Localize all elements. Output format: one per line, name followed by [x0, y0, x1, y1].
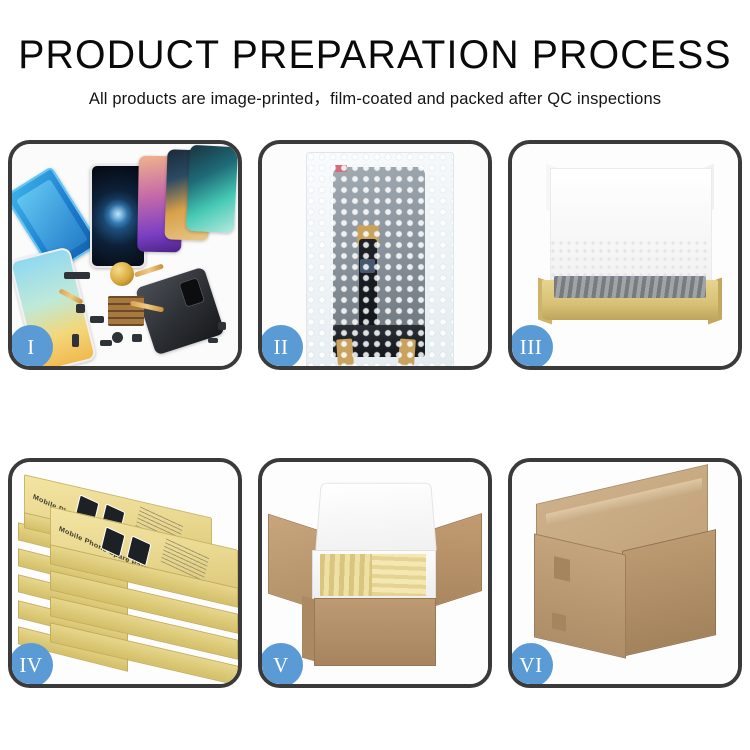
process-step-panel-2[interactable]: II	[258, 140, 492, 370]
process-step-grid: I II	[8, 140, 742, 740]
sealed-shipping-carton-image: VI	[512, 462, 738, 684]
process-step-panel-6[interactable]: VI	[508, 458, 742, 688]
page-header: PRODUCT PREPARATION PROCESS All products…	[0, 0, 750, 109]
open-kraft-box-with-foam-image: III	[512, 144, 738, 366]
step-badge-5: V	[262, 643, 303, 684]
phone-screens-and-spare-parts-image: I	[12, 144, 238, 366]
page-title: PRODUCT PREPARATION PROCESS	[8, 0, 743, 76]
carton-with-foam-liner-image: V	[262, 462, 488, 684]
process-step-panel-1[interactable]: I	[8, 140, 242, 370]
stack-of-retail-boxes-image: Mobile Phone Spare Parts Mobile Phone Sp…	[12, 462, 238, 684]
process-step-panel-5[interactable]: V	[258, 458, 492, 688]
step-badge-6: VI	[512, 643, 553, 684]
lcd-wrapped-in-bubble-wrap-image: II	[262, 144, 488, 366]
step-badge-4: IV	[12, 643, 53, 684]
step-badge-3: III	[512, 325, 553, 366]
step-badge-1: I	[12, 325, 53, 366]
process-step-panel-4[interactable]: Mobile Phone Spare Parts Mobile Phone Sp…	[8, 458, 242, 688]
step-badge-2: II	[262, 325, 303, 366]
process-step-panel-3[interactable]: III	[508, 140, 742, 370]
page-subtitle: All products are image-printed，film-coat…	[0, 76, 750, 109]
